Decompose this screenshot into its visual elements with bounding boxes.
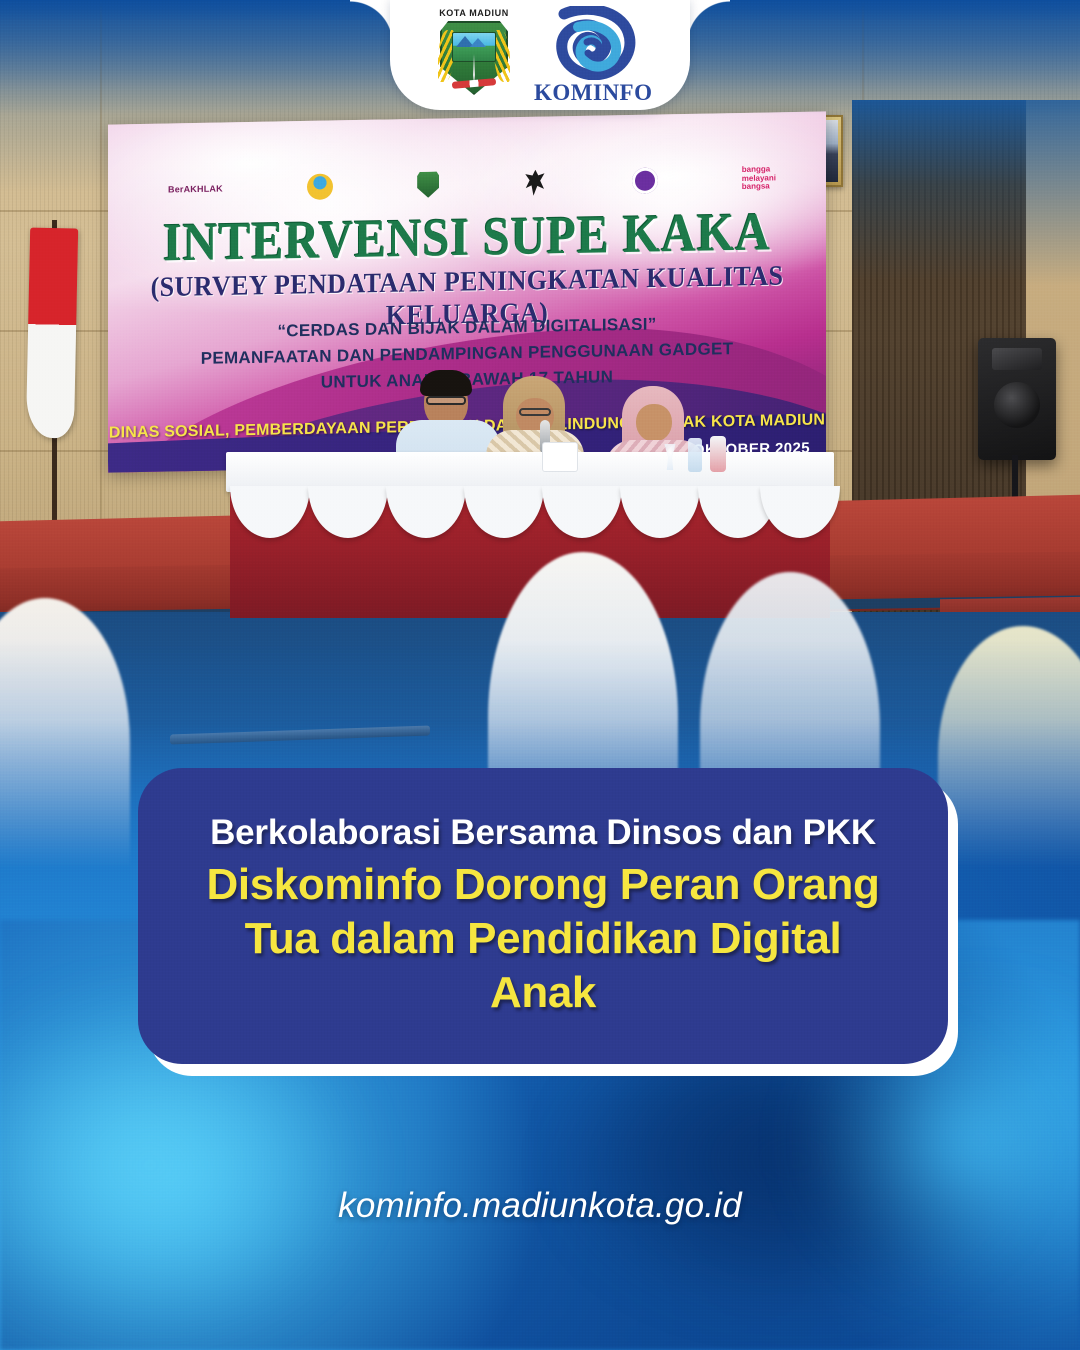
kominfo-wave-spiral-icon (534, 6, 652, 80)
logo-pkk (632, 168, 658, 194)
title-card: Berkolaborasi Bersama Dinsos dan PKK Dis… (138, 768, 948, 1064)
card-headline: Diskominfo Dorong Peran Orang Tua dalam … (207, 858, 880, 1019)
kominfo-wordmark: KOMINFO (534, 80, 652, 106)
kominfo-logo: KOMINFO (534, 6, 652, 106)
event-photo: BerAKHLAK banggamelayanibangsa INTERVENS… (0, 0, 1080, 880)
website-url[interactable]: kominfo.madiunkota.go.id (0, 1186, 1080, 1226)
event-banner: BerAKHLAK banggamelayanibangsa INTERVENS… (108, 111, 826, 472)
card-kicker: Berkolaborasi Bersama Dinsos dan PKK (210, 813, 876, 853)
logo-bangga-melayani-bangsa: banggamelayanibangsa (742, 166, 776, 192)
loudspeaker-icon (978, 338, 1056, 460)
tissue-box (542, 442, 578, 472)
logo-madiun-dancer (523, 170, 547, 196)
kota-madiun-crest-icon: KOTA MADIUN (428, 8, 520, 104)
header-logos: KOTA MADIUN KOMINFO (0, 6, 1080, 106)
logo-kota-madiun-small (417, 172, 439, 198)
logo-berakhlak: BerAKHLAK (168, 183, 223, 194)
indonesian-flag-icon (26, 228, 78, 439)
water-bottle (688, 438, 702, 472)
headline-line-1: Diskominfo Dorong Peran Orang (207, 858, 880, 912)
poster-canvas: BerAKHLAK banggamelayanibangsa INTERVENS… (0, 0, 1080, 1350)
logo-bangga-melayani (307, 173, 333, 199)
headline-line-3: Anak (207, 966, 880, 1020)
crest-caption: KOTA MADIUN (428, 8, 520, 18)
headline-line-2: Tua dalam Pendidikan Digital (207, 912, 880, 966)
